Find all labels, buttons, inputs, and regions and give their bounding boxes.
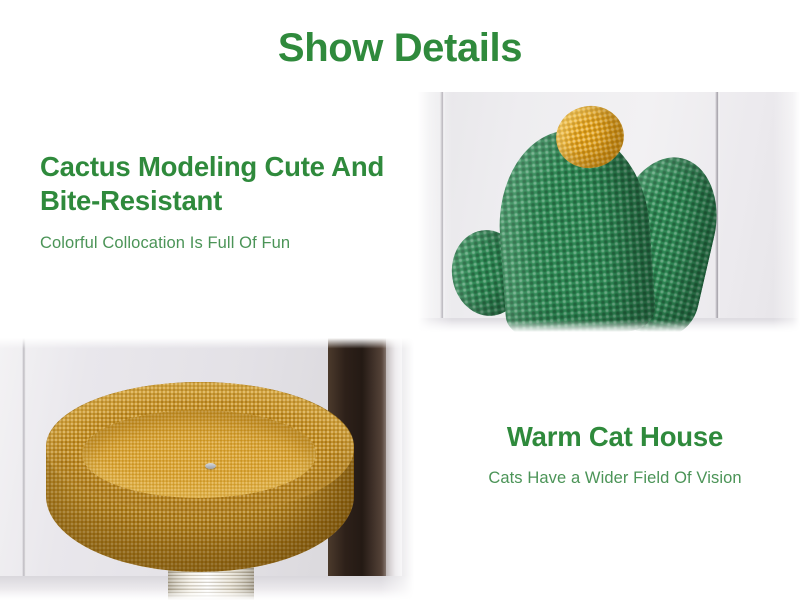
cat-bed-inner-surface <box>82 410 316 498</box>
cat-bed-photo <box>0 338 414 600</box>
page-title: Show Details <box>0 26 800 70</box>
cat-bed-scene <box>0 338 414 600</box>
cactus-copy-block: Cactus Modeling Cute And Bite-Resistant … <box>40 150 410 255</box>
cactus-subline: Colorful Collocation Is Full Of Fun <box>40 233 410 254</box>
cathouse-headline: Warm Cat House <box>440 420 790 454</box>
wall-seam <box>22 338 26 600</box>
cathouse-subline: Cats Have a Wider Field Of Vision <box>440 468 790 489</box>
cathouse-copy-block: Warm Cat House Cats Have a Wider Field O… <box>440 420 790 489</box>
cactus-headline: Cactus Modeling Cute And Bite-Resistant <box>40 150 410 217</box>
cactus-scratcher-photo <box>418 92 800 332</box>
door-frame-highlight <box>386 338 402 578</box>
bed-center-fastener <box>205 463 216 469</box>
cactus-scene <box>418 92 800 332</box>
wall-seam-left <box>440 92 445 332</box>
